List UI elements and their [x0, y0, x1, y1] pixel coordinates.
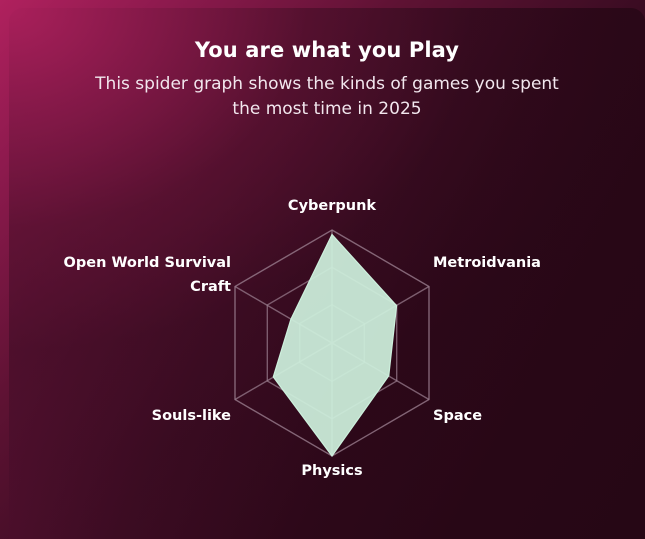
radar-data-polygon: [273, 235, 396, 456]
app-root: You are what you Play This spider graph …: [0, 0, 645, 539]
radar-label-space: Space: [433, 408, 482, 424]
radar-chart: Cyberpunk Metroidvania Space Physics Sou…: [9, 8, 645, 539]
radar-chart-svg: Cyberpunk Metroidvania Space Physics Sou…: [9, 8, 645, 539]
report-card: You are what you Play This spider graph …: [9, 8, 645, 539]
radar-label-open-world-survival-craft: Open World Survival Craft: [64, 255, 232, 295]
radar-label-ows-line-1: Open World Survival: [64, 255, 231, 271]
radar-label-ows-line-2: Craft: [190, 279, 231, 295]
radar-label-souls-like: Souls-like: [152, 408, 232, 424]
radar-label-metroidvania: Metroidvania: [433, 255, 541, 271]
radar-label-cyberpunk: Cyberpunk: [288, 198, 376, 214]
radar-label-physics: Physics: [301, 463, 362, 479]
